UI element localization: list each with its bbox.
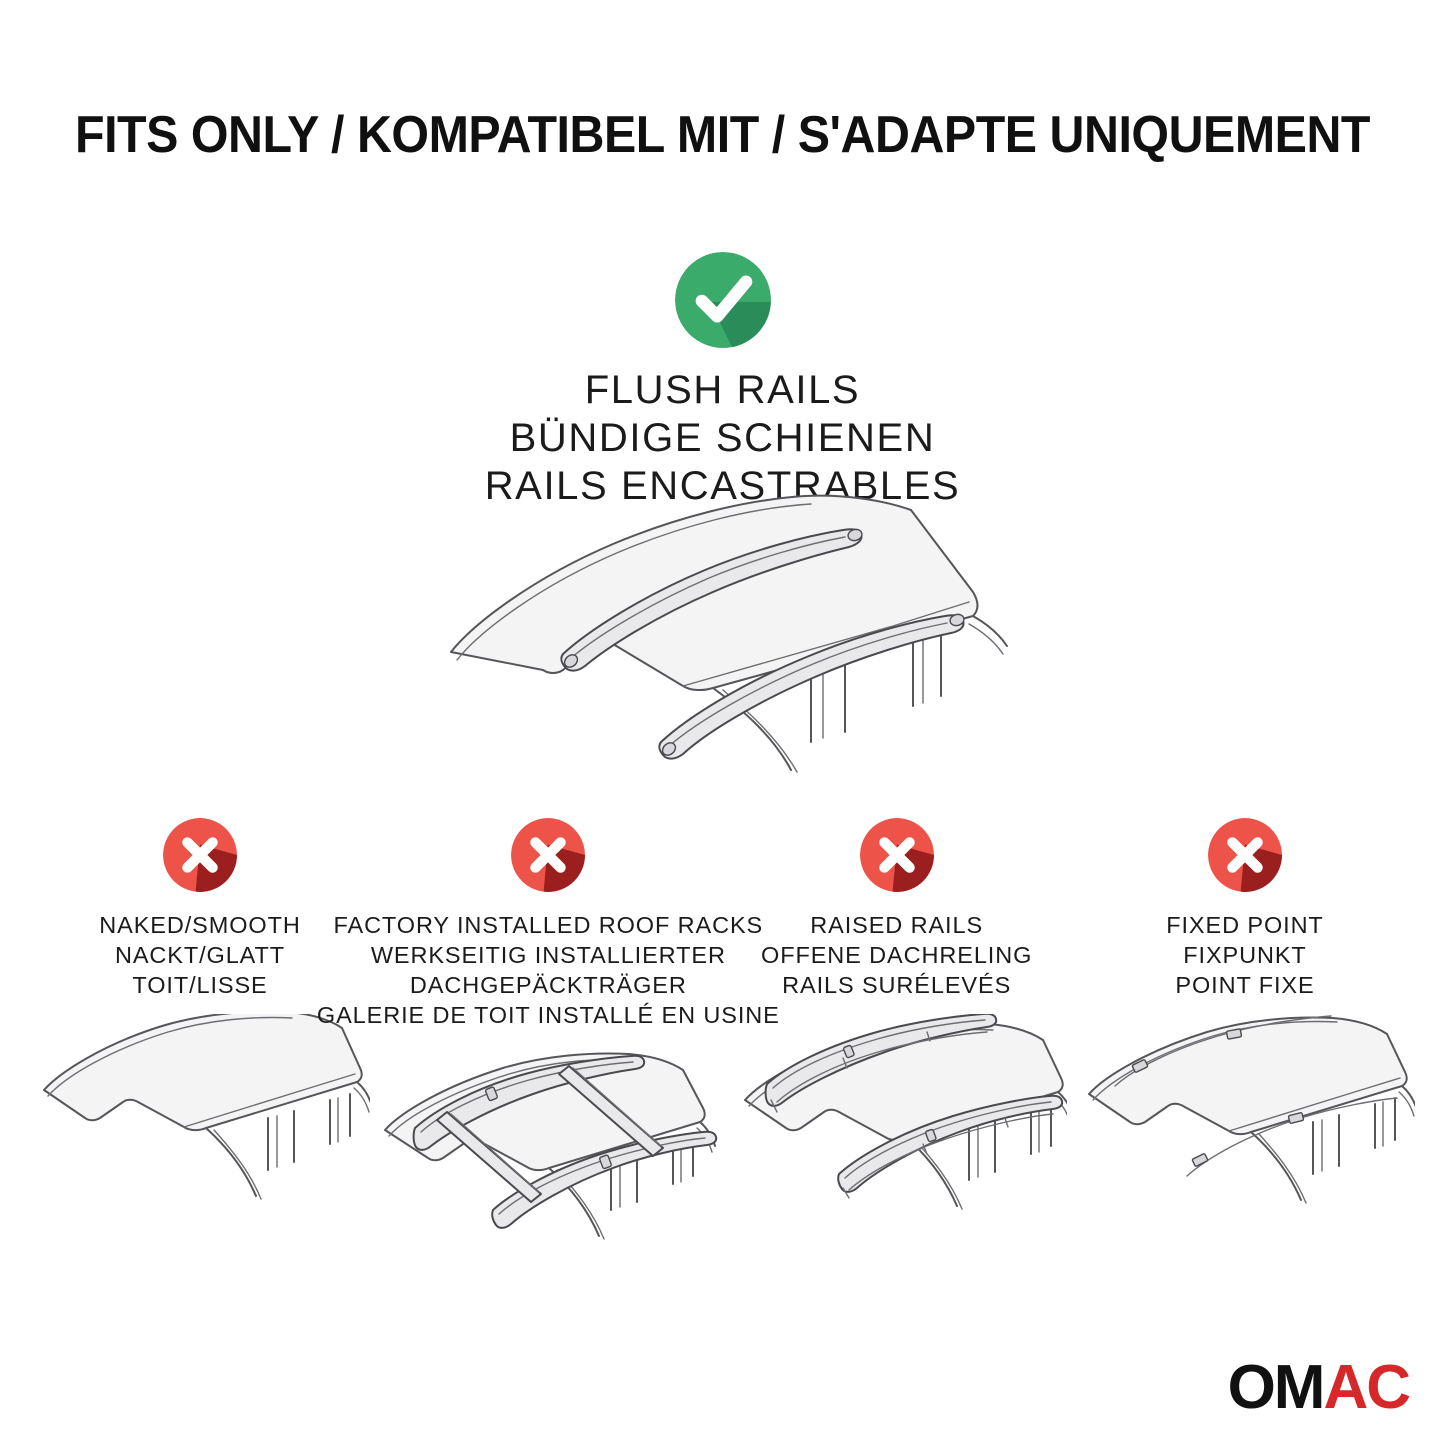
compatible-label-de: BÜNDIGE SCHIENEN <box>485 414 961 462</box>
incompatible-column-naked-smooth: NAKED/SMOOTH NACKT/GLATT TOIT/LISSE <box>30 818 370 1259</box>
car-roof-raised-rails-illustration <box>727 1014 1067 1229</box>
label-en: RAISED RAILS <box>761 910 1032 940</box>
label-en: FIXED POINT <box>1166 910 1323 940</box>
incompatible-column-factory-roof-racks: FACTORY INSTALLED ROOF RACKS WERKSEITIG … <box>378 818 718 1259</box>
label-fr: POINT FIXE <box>1166 970 1323 1000</box>
cross-circle-icon <box>511 818 585 892</box>
cross-circle-icon <box>860 818 934 892</box>
check-circle-icon <box>675 252 771 348</box>
compatible-section: FLUSH RAILS BÜNDIGE SCHIENEN RAILS ENCAS… <box>0 252 1445 510</box>
cross-circle-icon <box>1208 818 1282 892</box>
label-de-2: DACHGEPÄCKTRÄGER <box>317 970 780 1000</box>
label-de-1: WERKSEITIG INSTALLIERTER <box>317 940 780 970</box>
car-roof-factory-rack-illustration <box>363 1044 733 1259</box>
logo-part-om: OM <box>1228 1357 1324 1419</box>
incompatible-column-fixed-point: FIXED POINT FIXPUNKT POINT FIXE <box>1075 818 1415 1259</box>
label-de: FIXPUNKT <box>1166 940 1323 970</box>
label-fr: GALERIE DE TOIT INSTALLÉ EN USINE <box>317 1000 780 1030</box>
compatible-label-en: FLUSH RAILS <box>485 366 961 414</box>
label-fr: TOIT/LISSE <box>99 970 300 1000</box>
incompatible-sections: NAKED/SMOOTH NACKT/GLATT TOIT/LISSE <box>0 818 1445 1259</box>
omac-logo-text: OMAC <box>1228 1357 1409 1419</box>
incompatible-labels: FIXED POINT FIXPUNKT POINT FIXE <box>1166 910 1323 1000</box>
incompatible-labels: FACTORY INSTALLED ROOF RACKS WERKSEITIG … <box>317 910 780 1030</box>
incompatible-column-raised-rails: RAISED RAILS OFFENE DACHRELING RAILS SUR… <box>727 818 1067 1259</box>
page-title: FITS ONLY / KOMPATIBEL MIT / S'ADAPTE UN… <box>51 105 1395 165</box>
incompatible-labels: RAISED RAILS OFFENE DACHRELING RAILS SUR… <box>761 910 1032 1000</box>
label-de: OFFENE DACHRELING <box>761 940 1032 970</box>
logo-part-ac: AC <box>1323 1357 1409 1419</box>
cross-circle-icon <box>163 818 237 892</box>
car-roof-fixed-points-illustration <box>1075 1014 1415 1229</box>
label-en: FACTORY INSTALLED ROOF RACKS <box>317 910 780 940</box>
car-roof-naked-smooth-illustration <box>30 1014 370 1229</box>
incompatible-labels: NAKED/SMOOTH NACKT/GLATT TOIT/LISSE <box>99 910 300 1000</box>
label-fr: RAILS SURÉLEVÉS <box>761 970 1032 1000</box>
car-roof-flush-rails-illustration <box>413 474 1033 774</box>
label-en: NAKED/SMOOTH <box>99 910 300 940</box>
omac-logo: OMAC <box>1228 1357 1409 1419</box>
label-de: NACKT/GLATT <box>99 940 300 970</box>
